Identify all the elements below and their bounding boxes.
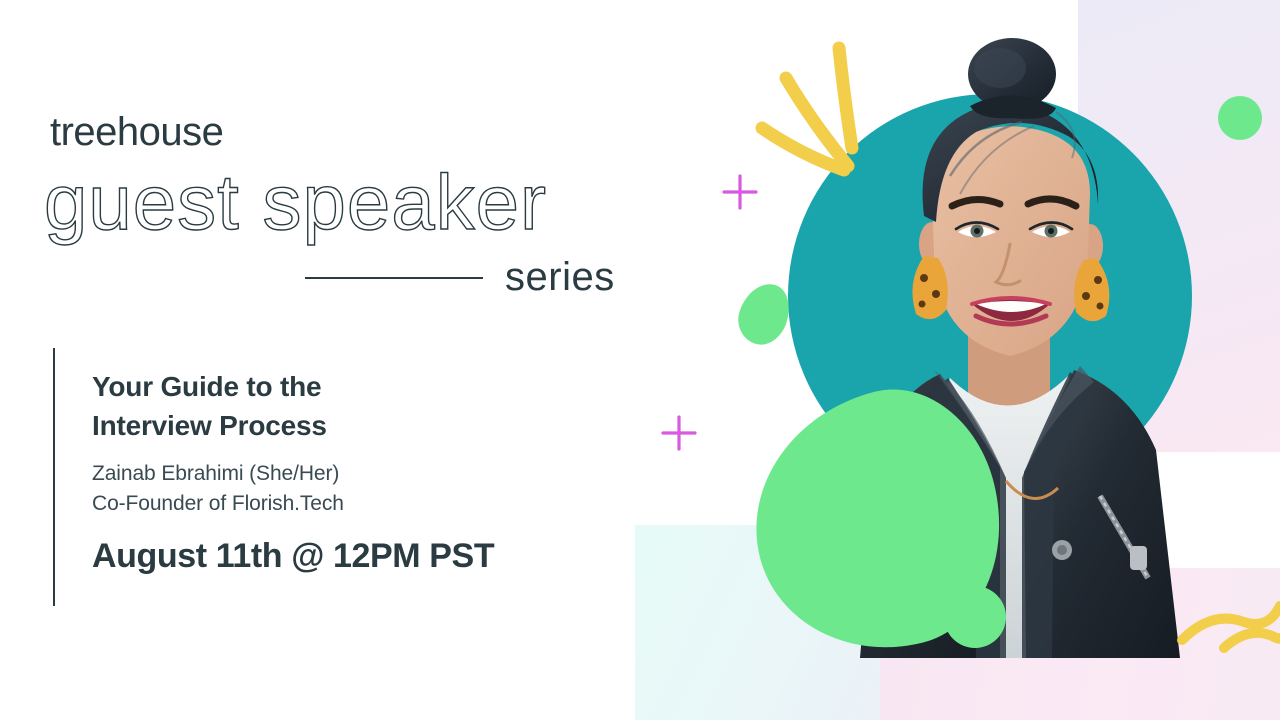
speaker-role: Co-Founder of Florish.Tech bbox=[92, 489, 612, 519]
headline-outlined: guest speaker bbox=[44, 163, 547, 241]
magenta-plus-icon bbox=[663, 417, 695, 449]
series-row: series bbox=[305, 255, 615, 300]
session-title: Your Guide to the Interview Process bbox=[92, 368, 612, 445]
series-divider-rule bbox=[305, 277, 483, 279]
green-dot-top-right-shape bbox=[1218, 96, 1262, 140]
promo-slide: treehouse guest speaker series Your Guid… bbox=[0, 0, 1280, 720]
session-title-line-1: Your Guide to the bbox=[92, 368, 612, 407]
session-title-line-2: Interview Process bbox=[92, 407, 612, 446]
series-label: series bbox=[505, 255, 615, 300]
green-pebble-shape bbox=[732, 277, 797, 351]
session-datetime: August 11th @ 12PM PST bbox=[92, 537, 612, 576]
speaker-block: Zainab Ebrahimi (She/Her) Co-Founder of … bbox=[92, 459, 612, 519]
session-info: Your Guide to the Interview Process Zain… bbox=[92, 368, 612, 576]
green-dot-bottom-shape bbox=[944, 586, 1006, 648]
vertical-accent-rule bbox=[53, 348, 55, 606]
magenta-plus-icon bbox=[724, 176, 756, 208]
speaker-name: Zainab Ebrahimi (She/Her) bbox=[92, 459, 612, 489]
brand-wordmark: treehouse bbox=[50, 110, 223, 155]
